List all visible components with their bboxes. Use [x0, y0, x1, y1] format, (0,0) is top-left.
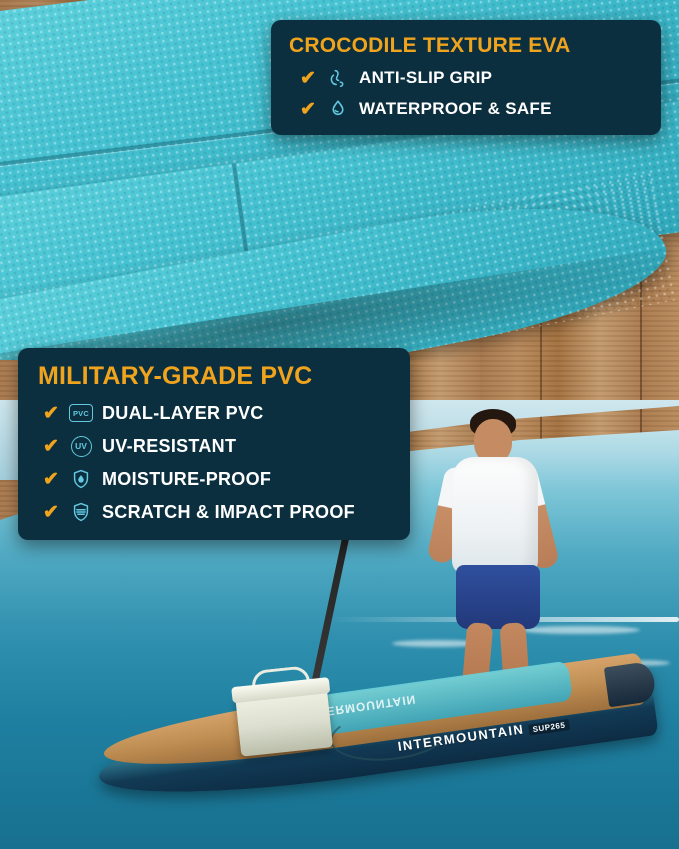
feature-label: MOISTURE-PROOF: [102, 469, 271, 490]
feature-item: ✔ MOISTURE-PROOF: [38, 467, 392, 491]
panel-title: CROCODILE TEXTURE EVA: [289, 34, 645, 58]
feature-label: ANTI-SLIP GRIP: [359, 68, 492, 88]
moisture-shield-icon: [69, 467, 93, 491]
pvc-badge-label: PVC: [69, 404, 93, 422]
feature-item: ✔ SCRATCH & IMPACT PROOF: [38, 500, 392, 524]
checkmark-icon: ✔: [42, 470, 60, 489]
blue-shorts: [456, 565, 540, 629]
feature-label: UV-RESISTANT: [102, 436, 236, 457]
callout-panel-crocodile-texture-eva: CROCODILE TEXTURE EVA ✔ ANTI-SLIP GRIP ✔: [271, 20, 661, 135]
checkmark-icon: ✔: [299, 100, 317, 119]
scratch-shield-icon: [69, 500, 93, 524]
checkmark-icon: ✔: [42, 503, 60, 522]
feature-label: DUAL-LAYER PVC: [102, 403, 264, 424]
feature-item: ✔ ANTI-SLIP GRIP: [289, 66, 645, 90]
feature-item: ✔ UV UV-RESISTANT: [38, 434, 392, 458]
feature-label: WATERPROOF & SAFE: [359, 99, 552, 119]
checkmark-icon: ✔: [42, 404, 60, 423]
callout-panel-military-grade-pvc: MILITARY-GRADE PVC ✔ PVC DUAL-LAYER PVC …: [18, 348, 410, 540]
uv-badge-icon: UV: [69, 434, 93, 458]
white-shirt: [452, 457, 538, 575]
feature-label: SCRATCH & IMPACT PROOF: [102, 502, 355, 523]
cooler-box: [235, 685, 333, 756]
anti-slip-foot-icon: [326, 66, 350, 90]
waterdrop-icon: [326, 97, 350, 121]
scene-root: INTERMOUNTAIN INTERMOUNTAIN SUP265 CROCO…: [0, 0, 679, 849]
checkmark-icon: ✔: [42, 437, 60, 456]
panel-title: MILITARY-GRADE PVC: [38, 362, 392, 391]
uv-badge-label: UV: [71, 436, 92, 457]
checkmark-icon: ✔: [299, 69, 317, 88]
feature-item: ✔ WATERPROOF & SAFE: [289, 97, 645, 121]
feature-item: ✔ PVC DUAL-LAYER PVC: [38, 401, 392, 425]
pvc-badge-icon: PVC: [69, 401, 93, 425]
